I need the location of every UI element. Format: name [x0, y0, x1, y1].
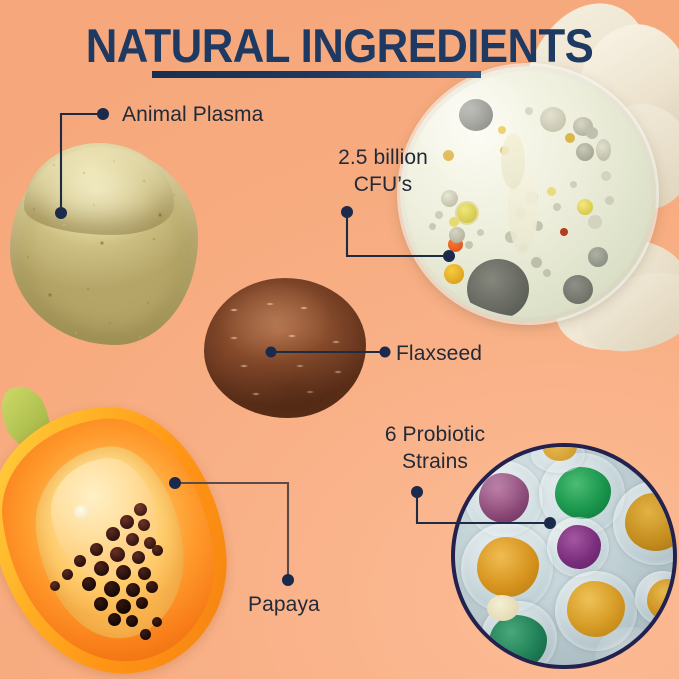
callout-label-animal-plasma: Animal Plasma — [122, 101, 263, 128]
leader-path-cfu-count — [347, 212, 449, 256]
callout-label-flaxseed: Flaxseed — [396, 340, 482, 367]
callout-dot-animal-plasma-target — [55, 207, 67, 219]
callout-dot-papaya-text — [282, 574, 294, 586]
callout-dot-papaya-target — [169, 477, 181, 489]
callout-dot-cfu-text — [341, 206, 353, 218]
callout-label-cfu-count: 2.5 billion CFU’s — [293, 144, 473, 198]
callout-leader-lines — [0, 0, 679, 679]
callout-dot-cfu-target — [443, 250, 455, 262]
callout-dot-probiotic-text — [411, 486, 423, 498]
callout-dot-probiotic-target — [544, 517, 556, 529]
callout-label-probiotic-strains: 6 Probiotic Strains — [345, 421, 525, 475]
callout-label-papaya: Papaya — [248, 591, 320, 618]
leader-path-probiotic-strains — [417, 492, 550, 523]
callout-dot-flaxseed-target — [266, 347, 277, 358]
callout-dot-flaxseed-text — [380, 347, 391, 358]
ingredients-infographic: NATURAL INGREDIENTS Animal Plasma 2.5 bi… — [0, 0, 679, 679]
callout-dot-animal-plasma-text — [97, 108, 109, 120]
leader-path-papaya — [175, 483, 288, 580]
leader-path-animal-plasma — [61, 114, 103, 213]
